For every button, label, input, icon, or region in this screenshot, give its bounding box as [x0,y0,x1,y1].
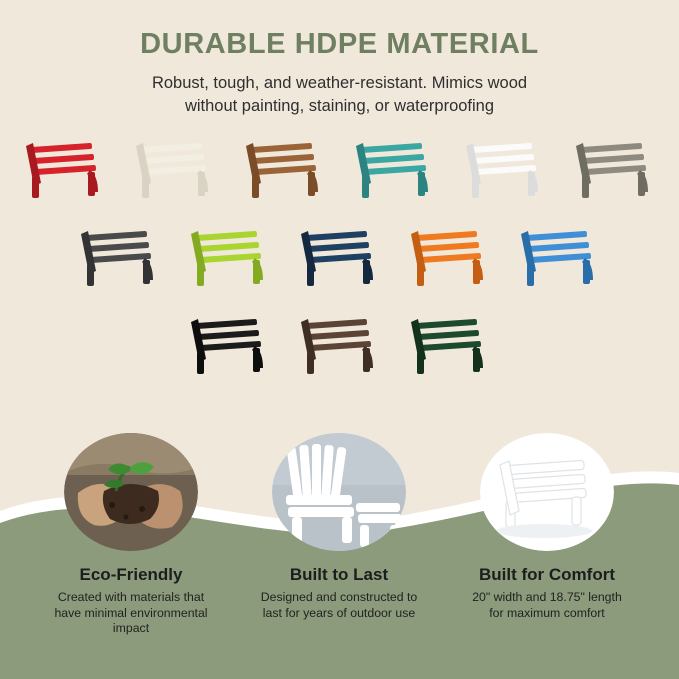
feature-description: 20" width and 18.75" length for maximum … [448,590,646,621]
teal-ottoman [346,132,444,204]
page-title: DURABLE HDPE MATERIAL [0,28,679,61]
coffee-brown-ottoman [291,308,389,380]
white-ottoman [456,132,554,204]
infographic-page: DURABLE HDPE MATERIAL Robust, tough, and… [0,0,679,679]
subtitle-line-2: without painting, staining, or waterproo… [0,95,679,118]
white-adirondack-chair-photo [272,433,406,551]
dark-green-ottoman [401,308,499,380]
feature-desc-line-2: have minimal environmental [32,606,230,622]
feature-desc-line-1: Created with materials that [32,590,230,606]
feature-description: Created with materials that have minimal… [32,590,230,637]
product-row-3 [14,308,665,380]
subtitle-line-1: Robust, tough, and weather-resistant. Mi… [0,72,679,95]
gray-taupe-ottoman [566,132,664,204]
feature-title: Built for Comfort [448,565,646,585]
brown-ottoman [236,132,334,204]
product-color-grid [14,132,665,407]
feature-description: Designed and constructed to last for yea… [240,590,438,621]
white-ottoman-photo [480,433,614,551]
feature-desc-line-2: last for years of outdoor use [240,606,438,622]
lime-green-ottoman [181,220,279,292]
ivory-ottoman [126,132,224,204]
blue-ottoman [511,220,609,292]
orange-ottoman [401,220,499,292]
feature-title: Built to Last [240,565,438,585]
feature-desc-line-3: impact [32,621,230,637]
navy-blue-ottoman [291,220,389,292]
feature-built-for-comfort: Built for Comfort 20" width and 18.75" l… [448,433,646,621]
feature-built-to-last: Built to Last Designed and constructed t… [240,433,438,621]
hands-holding-soil-seedling-photo [64,433,198,551]
feature-cards: Eco-Friendly Created with materials that… [0,431,679,661]
feature-desc-line-2: for maximum comfort [448,606,646,622]
feature-eco-friendly: Eco-Friendly Created with materials that… [32,433,230,637]
red-ottoman [16,132,114,204]
product-row-2 [14,220,665,292]
feature-title: Eco-Friendly [32,565,230,585]
feature-desc-line-1: 20" width and 18.75" length [448,590,646,606]
product-row-1 [14,132,665,204]
black-ottoman [181,308,279,380]
dark-gray-ottoman [71,220,169,292]
feature-desc-line-1: Designed and constructed to [240,590,438,606]
page-subtitle: Robust, tough, and weather-resistant. Mi… [0,72,679,118]
